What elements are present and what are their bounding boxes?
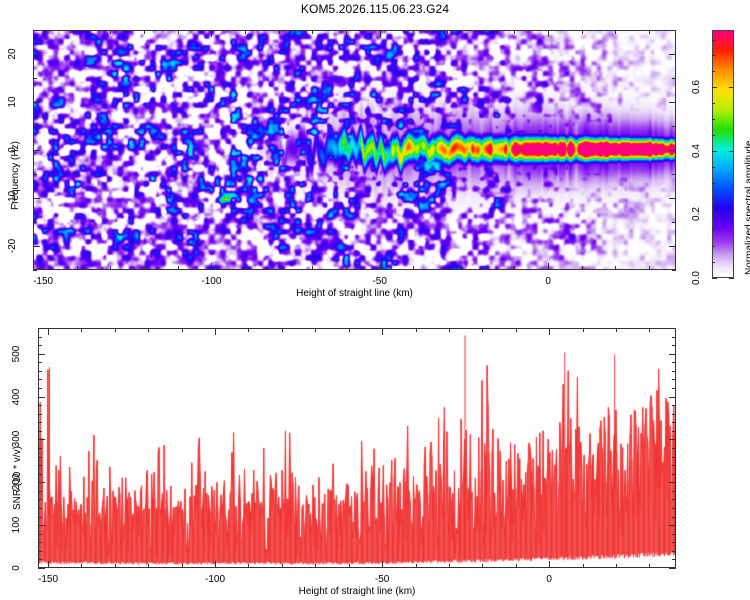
snr-xtick-top (182, 328, 183, 332)
snr-xtick-top (583, 328, 584, 332)
spectrogram-xtick-top (211, 30, 212, 37)
snr-xtick (382, 561, 383, 568)
snr-xtick (649, 564, 650, 568)
spectrogram-image (34, 31, 675, 269)
spectrogram-ytick (33, 126, 37, 127)
colorbar-minor-tick (712, 71, 715, 72)
snr-ytick-right (672, 499, 676, 500)
snr-xtick (81, 564, 82, 568)
spectrogram-xtick-top (77, 30, 78, 34)
spectrogram-xtick (481, 266, 482, 270)
snr-xticklabel: 0 (531, 574, 567, 585)
colorbar-ticklabel: 0.6 (689, 74, 705, 100)
snr-xtick (148, 564, 149, 568)
snr-ytick-right (672, 517, 676, 518)
spectrogram-xticklabel: -100 (193, 276, 229, 287)
spectrogram-ytick (33, 102, 40, 103)
spectrogram-ytick-right (672, 30, 676, 31)
spectrogram-ytick (33, 198, 40, 199)
colorbar-minor-tick (712, 119, 715, 120)
snr-ytick (38, 397, 45, 398)
snr-ytick (38, 439, 45, 440)
snr-ytick-right (672, 508, 676, 509)
snr-xtick-top (349, 328, 350, 332)
spectrogram-ytick-right (672, 126, 676, 127)
snr-ytick-right (672, 371, 676, 372)
colorbar-minor-tick (712, 167, 715, 168)
snr-ytick-right (672, 457, 676, 458)
snr-xtick (449, 564, 450, 568)
colorbar-gradient (713, 31, 733, 277)
colorbar-minor-tick (712, 151, 715, 152)
spectrogram-panel[interactable] (33, 30, 676, 270)
snr-ytick (38, 457, 42, 458)
spectrogram-ytick-right (672, 78, 676, 79)
snr-xticklabel: -50 (364, 574, 400, 585)
spectrogram-xticklabel: 0 (530, 276, 566, 287)
snr-xtick (282, 564, 283, 568)
snr-xtick (215, 561, 216, 568)
spectrogram-xtick-top (615, 30, 616, 34)
snr-ytick-right (672, 491, 676, 492)
spectrogram-xtick (548, 263, 549, 270)
snr-ytick-right (672, 551, 676, 552)
spectrogram-ytick (33, 222, 37, 223)
snr-yticklabel: 100 (9, 508, 25, 542)
snr-ytick (38, 517, 42, 518)
colorbar-minor-tick (712, 87, 715, 88)
snr-xtick-top (616, 328, 617, 332)
snr-ytick-right (669, 439, 676, 440)
snr-ytick-right (672, 422, 676, 423)
snr-ytick (38, 431, 42, 432)
snr-ytick (38, 422, 42, 423)
figure-root: KOM5.2026.115.06.23.G24 -150-100-5002010… (0, 0, 750, 600)
spectrogram-xtick (144, 266, 145, 270)
colorbar-minor-tick (712, 55, 715, 56)
colorbar-tick (712, 278, 717, 279)
spectrogram-xtick-top (380, 30, 381, 37)
snr-ytick (38, 414, 42, 415)
spectrogram-ytick-right (672, 222, 676, 223)
spectrogram-xtick-top (144, 30, 145, 34)
snr-xtick (516, 564, 517, 568)
snr-ytick (38, 491, 42, 492)
colorbar-minor-tick (712, 199, 715, 200)
spectrogram-yticklabel: 20 (6, 40, 20, 68)
snr-xtick (182, 564, 183, 568)
spectrogram-xtick-top (447, 30, 448, 34)
snr-ytick (38, 559, 42, 560)
snr-ytick-right (672, 559, 676, 560)
snr-ytick (38, 448, 42, 449)
snr-xticklabel: -100 (197, 574, 233, 585)
snr-ytick-right (672, 388, 676, 389)
snr-ytick (38, 499, 42, 500)
spectrogram-ytick (33, 78, 37, 79)
spectrogram-ytick-right (669, 198, 676, 199)
snr-ytick-right (669, 354, 676, 355)
snr-xaxis-label: Height of straight line (km) (38, 586, 676, 597)
snr-yaxis-label: SNR (10 * v/v) (12, 446, 23, 510)
snr-ytick (38, 568, 45, 569)
spectrogram-xtick (245, 266, 246, 270)
snr-ytick-right (669, 482, 676, 483)
snr-yticklabel: 0 (9, 551, 25, 585)
spectrogram-xtick (346, 266, 347, 270)
spectrogram-xaxis-label: Height of straight line (km) (33, 288, 676, 299)
snr-ytick-right (672, 362, 676, 363)
spectrogram-xtick (77, 266, 78, 270)
colorbar-ticklabel: 0.2 (689, 201, 705, 227)
snr-ytick (38, 551, 42, 552)
snr-ytick (38, 345, 42, 346)
colorbar[interactable] (712, 30, 734, 278)
spectrogram-xtick-top (481, 30, 482, 34)
snr-ytick-right (672, 345, 676, 346)
spectrogram-yticklabel: -20 (6, 232, 20, 260)
snr-ytick (38, 508, 42, 509)
snr-xtick-top (416, 328, 417, 332)
spectrogram-xtick (178, 266, 179, 270)
spectrogram-ytick (33, 246, 40, 247)
snr-xtick-top (315, 328, 316, 332)
snr-xtick (549, 561, 550, 568)
snr-xtick-top (115, 328, 116, 332)
colorbar-minor-tick (712, 40, 715, 41)
snr-xtick-top (215, 328, 216, 335)
snr-ytick (38, 354, 45, 355)
snr-yticklabel: 500 (9, 337, 25, 371)
spectrogram-xtick-top (548, 30, 549, 37)
snr-xtick-top (248, 328, 249, 332)
snr-xtick (315, 564, 316, 568)
snr-xtick (583, 564, 584, 568)
spectrogram-ytick (33, 174, 37, 175)
spectrogram-ytick-right (669, 102, 676, 103)
colorbar-tick-right (729, 214, 734, 215)
colorbar-minor-tick (712, 103, 715, 104)
snr-xtick-top (382, 328, 383, 335)
snr-ytick-right (672, 448, 676, 449)
snr-ytick (38, 482, 45, 483)
colorbar-minor-tick (712, 230, 715, 231)
spectrogram-xtick (615, 266, 616, 270)
spectrogram-ytick (33, 54, 40, 55)
spectrogram-xtick-top (346, 30, 347, 34)
page-title: KOM5.2026.115.06.23.G24 (0, 2, 750, 16)
spectrogram-ytick (33, 270, 37, 271)
spectrogram-ytick-right (669, 54, 676, 55)
snr-ytick (38, 362, 42, 363)
snr-ytick-right (669, 397, 676, 398)
spectrogram-xtick (279, 266, 280, 270)
spectrogram-xtick-top (43, 30, 44, 37)
colorbar-tick-right (729, 278, 734, 279)
spectrogram-yaxis-label: Frequency (Hz) (10, 141, 21, 210)
spectrogram-xticklabel: -150 (25, 276, 61, 287)
colorbar-label: Normalized spectral amplitude (744, 140, 750, 275)
spectrogram-xtick-top (110, 30, 111, 34)
spectrogram-xtick-top (178, 30, 179, 34)
spectrogram-xtick (582, 266, 583, 270)
snr-ytick (38, 525, 45, 526)
snr-ytick (38, 371, 42, 372)
spectrogram-ytick (33, 150, 40, 151)
spectrogram-ytick (33, 30, 37, 31)
snr-panel[interactable] (38, 328, 676, 568)
spectrogram-xtick (649, 266, 650, 270)
snr-ytick (38, 405, 42, 406)
spectrogram-xtick-top (649, 30, 650, 34)
snr-ytick-right (669, 568, 676, 569)
snr-ytick (38, 388, 42, 389)
snr-ytick-right (672, 465, 676, 466)
spectrogram-ytick-right (672, 270, 676, 271)
snr-xtick (482, 564, 483, 568)
snr-xticklabel: -150 (30, 574, 66, 585)
spectrogram-xtick-top (279, 30, 280, 34)
spectrogram-xtick-top (582, 30, 583, 34)
colorbar-minor-tick (712, 246, 715, 247)
spectrogram-xtick (110, 266, 111, 270)
colorbar-minor-tick (712, 135, 715, 136)
colorbar-tick-right (729, 87, 734, 88)
colorbar-minor-tick (712, 183, 715, 184)
snr-xtick-top (148, 328, 149, 332)
spectrogram-xtick (514, 266, 515, 270)
snr-ytick-right (672, 431, 676, 432)
snr-ytick-right (672, 534, 676, 535)
spectrogram-xtick (380, 263, 381, 270)
spectrogram-xtick (447, 266, 448, 270)
snr-ytick-right (672, 379, 676, 380)
spectrogram-xtick (43, 263, 44, 270)
colorbar-minor-tick (712, 214, 715, 215)
snr-xtick-top (48, 328, 49, 335)
spectrogram-xtick (211, 263, 212, 270)
spectrogram-ytick-right (669, 246, 676, 247)
colorbar-tick-right (729, 151, 734, 152)
snr-ytick-right (672, 474, 676, 475)
snr-trace (39, 329, 675, 567)
spectrogram-ytick-right (672, 174, 676, 175)
snr-ytick-right (672, 337, 676, 338)
snr-xtick (616, 564, 617, 568)
snr-xtick-top (482, 328, 483, 332)
spectrogram-yticklabel: 10 (6, 88, 20, 116)
colorbar-minor-tick (712, 262, 715, 263)
snr-ytick-right (669, 525, 676, 526)
snr-xtick (349, 564, 350, 568)
spectrogram-ytick-right (669, 150, 676, 151)
spectrogram-xtick-top (514, 30, 515, 34)
snr-xtick-top (449, 328, 450, 332)
spectrogram-xticklabel: -50 (362, 276, 398, 287)
spectrogram-xtick (413, 266, 414, 270)
snr-yticklabel: 400 (9, 380, 25, 414)
colorbar-ticklabel: 0.4 (689, 138, 705, 164)
snr-xtick-top (549, 328, 550, 335)
snr-xtick (248, 564, 249, 568)
snr-xtick (48, 561, 49, 568)
snr-ytick (38, 542, 42, 543)
snr-ytick (38, 328, 42, 329)
spectrogram-xtick-top (312, 30, 313, 34)
spectrogram-xtick (312, 266, 313, 270)
snr-xtick-top (81, 328, 82, 332)
spectrogram-xtick-top (413, 30, 414, 34)
snr-ytick-right (672, 328, 676, 329)
snr-xtick-top (282, 328, 283, 332)
snr-xtick (416, 564, 417, 568)
snr-xtick-top (516, 328, 517, 332)
colorbar-ticklabel: 0.0 (689, 265, 705, 291)
snr-ytick-right (672, 414, 676, 415)
snr-ytick (38, 379, 42, 380)
snr-ytick-right (672, 405, 676, 406)
snr-ytick (38, 534, 42, 535)
snr-ytick (38, 337, 42, 338)
snr-ytick (38, 474, 42, 475)
snr-ytick-right (672, 542, 676, 543)
snr-ytick (38, 465, 42, 466)
snr-xtick (115, 564, 116, 568)
snr-xtick-top (649, 328, 650, 332)
spectrogram-xtick-top (245, 30, 246, 34)
